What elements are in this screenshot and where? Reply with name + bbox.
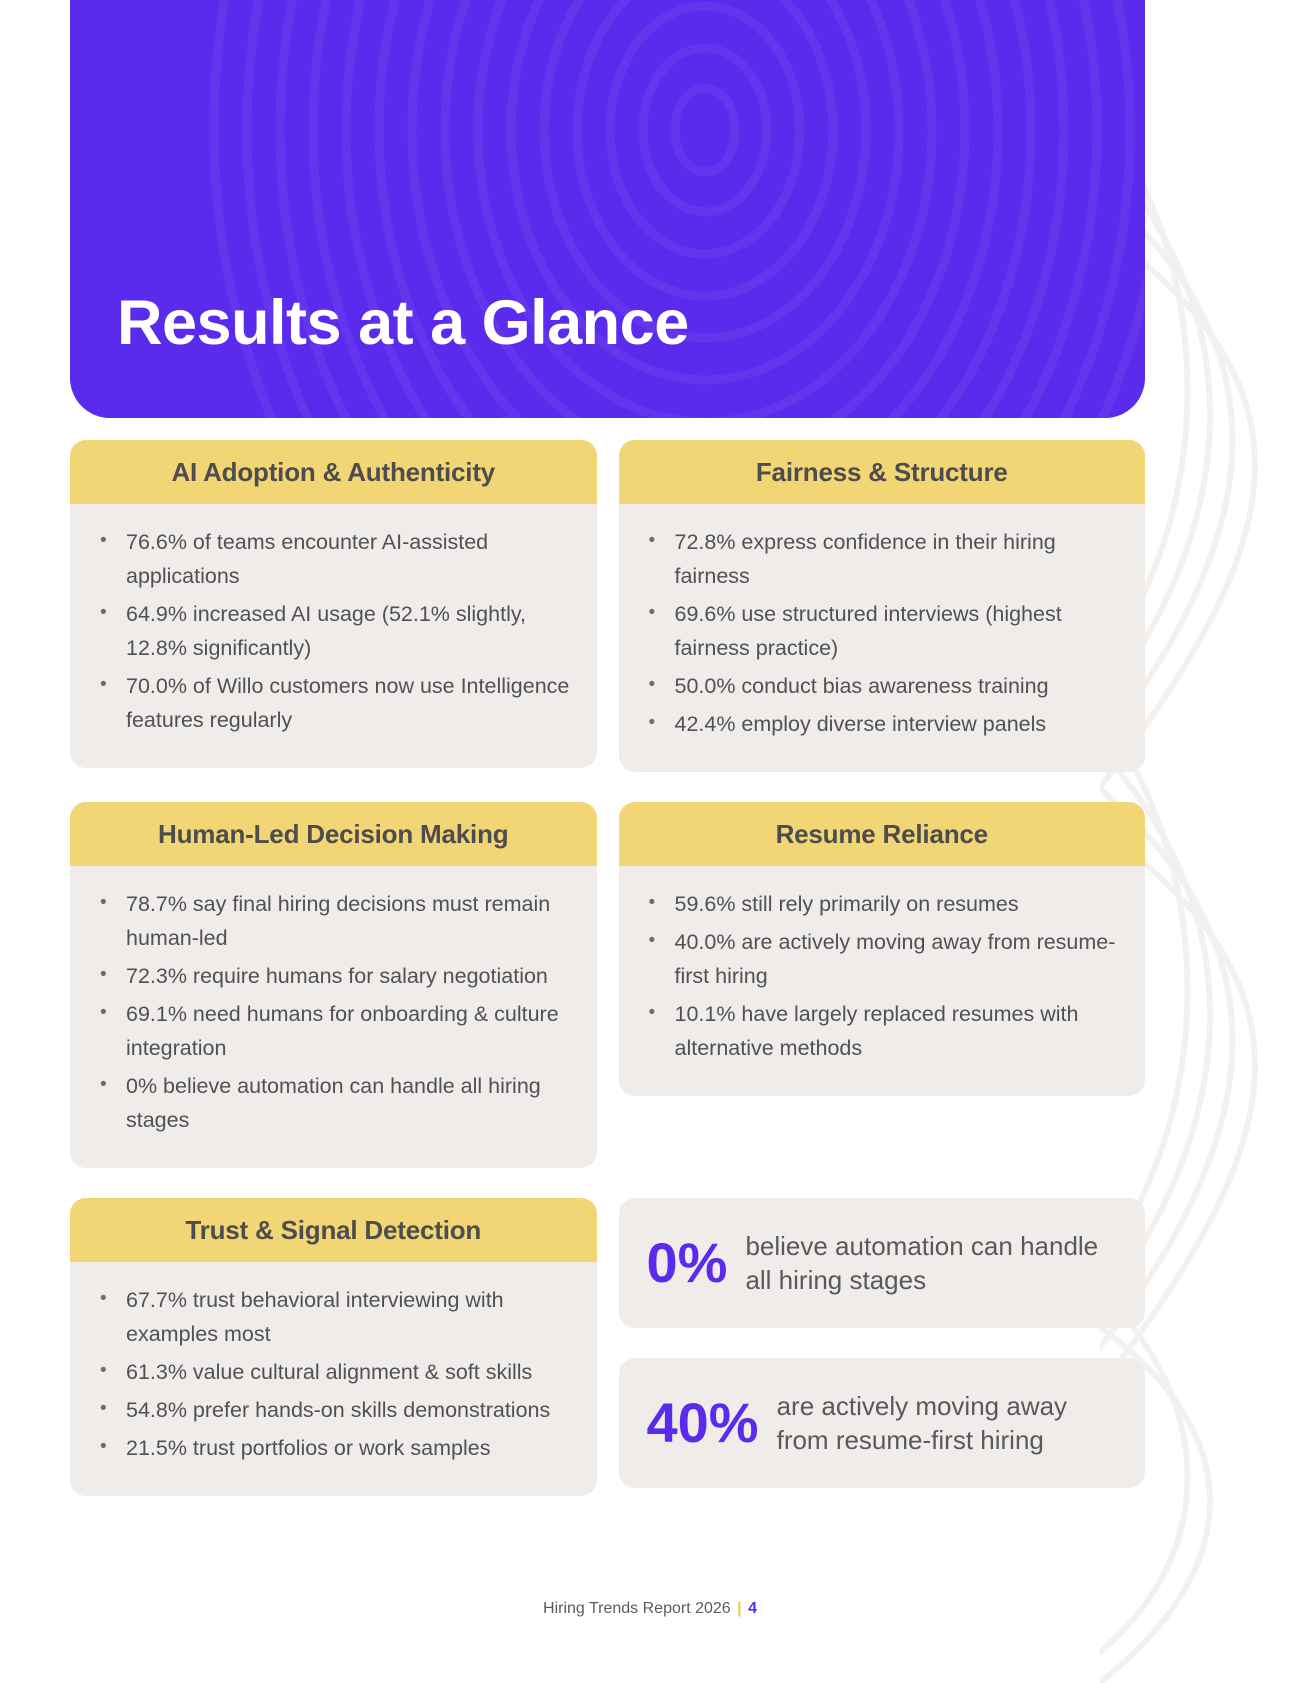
list-item: 54.8% prefer hands-on skills demonstrati… bbox=[82, 1394, 571, 1428]
card-title: Resume Reliance bbox=[639, 819, 1126, 850]
list-item: 76.6% of teams encounter AI-assisted app… bbox=[82, 526, 571, 594]
bullet-list: 72.8% express confidence in their hiring… bbox=[631, 526, 1120, 742]
card-header: Human-Led Decision Making bbox=[70, 802, 597, 866]
list-item: 61.3% value cultural alignment & soft sk… bbox=[82, 1356, 571, 1390]
bullet-list: 78.7% say final hiring decisions must re… bbox=[82, 888, 571, 1138]
grid-col-right-1: Fairness & Structure 72.8% express confi… bbox=[619, 440, 1146, 772]
stat-callout-resume-first: 40% are actively moving away from resume… bbox=[619, 1358, 1146, 1488]
card-body: 67.7% trust behavioral interviewing with… bbox=[70, 1262, 597, 1496]
list-item: 40.0% are actively moving away from resu… bbox=[631, 926, 1120, 994]
list-item: 69.6% use structured interviews (highest… bbox=[631, 598, 1120, 666]
hero-banner: Results at a Glance bbox=[70, 0, 1145, 418]
card-header: Resume Reliance bbox=[619, 802, 1146, 866]
list-item: 0% believe automation can handle all hir… bbox=[82, 1070, 571, 1138]
grid-col-right-3: 0% believe automation can handle all hir… bbox=[619, 1198, 1146, 1496]
grid-row-3: Trust & Signal Detection 67.7% trust beh… bbox=[70, 1198, 1145, 1496]
grid-col-right-2: Resume Reliance 59.6% still rely primari… bbox=[619, 802, 1146, 1168]
card-header: Fairness & Structure bbox=[619, 440, 1146, 504]
grid-row-1: AI Adoption & Authenticity 76.6% of team… bbox=[70, 440, 1145, 772]
stat-label: are actively moving away from resume-fir… bbox=[777, 1389, 1117, 1458]
card-fairness-structure: Fairness & Structure 72.8% express confi… bbox=[619, 440, 1146, 772]
list-item: 21.5% trust portfolios or work samples bbox=[82, 1432, 571, 1466]
card-body: 72.8% express confidence in their hiring… bbox=[619, 504, 1146, 772]
card-title: Trust & Signal Detection bbox=[90, 1215, 577, 1246]
card-body: 78.7% say final hiring decisions must re… bbox=[70, 866, 597, 1168]
page-title: Results at a Glance bbox=[117, 292, 689, 355]
list-item: 69.1% need humans for onboarding & cultu… bbox=[82, 998, 571, 1066]
card-title: AI Adoption & Authenticity bbox=[90, 457, 577, 488]
card-trust-signal-detection: Trust & Signal Detection 67.7% trust beh… bbox=[70, 1198, 597, 1496]
stat-callout-automation: 0% believe automation can handle all hir… bbox=[619, 1198, 1146, 1328]
footer-page-number: 4 bbox=[748, 1600, 757, 1617]
grid-col-left-2: Human-Led Decision Making 78.7% say fina… bbox=[70, 802, 597, 1168]
page-footer: Hiring Trends Report 2026 | 4 bbox=[0, 1600, 1300, 1618]
bullet-list: 59.6% still rely primarily on resumes 40… bbox=[631, 888, 1120, 1066]
stat-value: 40% bbox=[647, 1395, 759, 1451]
card-header: AI Adoption & Authenticity bbox=[70, 440, 597, 504]
card-body: 59.6% still rely primarily on resumes 40… bbox=[619, 866, 1146, 1096]
stat-label: believe automation can handle all hiring… bbox=[745, 1229, 1117, 1298]
footer-separator: | bbox=[737, 1600, 741, 1617]
card-title: Human-Led Decision Making bbox=[90, 819, 577, 850]
grid-row-2: Human-Led Decision Making 78.7% say fina… bbox=[70, 802, 1145, 1168]
card-header: Trust & Signal Detection bbox=[70, 1198, 597, 1262]
footer-report-name: Hiring Trends Report 2026 bbox=[543, 1600, 731, 1617]
list-item: 59.6% still rely primarily on resumes bbox=[631, 888, 1120, 922]
list-item: 42.4% employ diverse interview panels bbox=[631, 708, 1120, 742]
list-item: 50.0% conduct bias awareness training bbox=[631, 670, 1120, 704]
card-ai-adoption-authenticity: AI Adoption & Authenticity 76.6% of team… bbox=[70, 440, 597, 768]
bullet-list: 76.6% of teams encounter AI-assisted app… bbox=[82, 526, 571, 738]
list-item: 72.3% require humans for salary negotiat… bbox=[82, 960, 571, 994]
list-item: 64.9% increased AI usage (52.1% slightly… bbox=[82, 598, 571, 666]
list-item: 10.1% have largely replaced resumes with… bbox=[631, 998, 1120, 1066]
list-item: 70.0% of Willo customers now use Intelli… bbox=[82, 670, 571, 738]
bullet-list: 67.7% trust behavioral interviewing with… bbox=[82, 1284, 571, 1466]
grid-col-left-1: AI Adoption & Authenticity 76.6% of team… bbox=[70, 440, 597, 772]
list-item: 67.7% trust behavioral interviewing with… bbox=[82, 1284, 571, 1352]
card-resume-reliance: Resume Reliance 59.6% still rely primari… bbox=[619, 802, 1146, 1096]
list-item: 78.7% say final hiring decisions must re… bbox=[82, 888, 571, 956]
list-item: 72.8% express confidence in their hiring… bbox=[631, 526, 1120, 594]
results-grid: AI Adoption & Authenticity 76.6% of team… bbox=[70, 440, 1145, 1526]
card-title: Fairness & Structure bbox=[639, 457, 1126, 488]
card-body: 76.6% of teams encounter AI-assisted app… bbox=[70, 504, 597, 768]
grid-col-left-3: Trust & Signal Detection 67.7% trust beh… bbox=[70, 1198, 597, 1496]
card-human-led-decision-making: Human-Led Decision Making 78.7% say fina… bbox=[70, 802, 597, 1168]
stat-value: 0% bbox=[647, 1235, 728, 1291]
